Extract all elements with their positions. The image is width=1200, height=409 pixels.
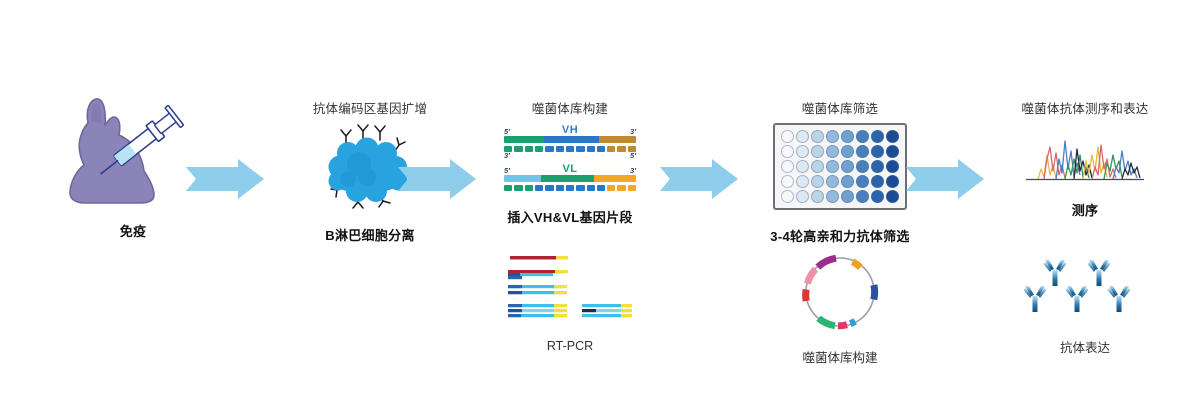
plate-well	[781, 190, 794, 203]
plate-well	[796, 175, 809, 188]
workflow-diagram: 免疫 抗体编码区基因扩增	[0, 0, 1200, 409]
plate-well	[841, 130, 854, 143]
antibody-molecules-icon	[1021, 258, 1149, 327]
top-label-sequencing: 噬菌体抗体测序和表达	[985, 98, 1185, 117]
plate-well	[871, 175, 884, 188]
plate-well	[871, 160, 884, 173]
plate-well	[886, 130, 899, 143]
plate-well	[796, 145, 809, 158]
plate-well	[781, 175, 794, 188]
sub-label-plasmid: 噬菌体库构建	[740, 347, 940, 366]
plate-well	[841, 175, 854, 188]
sub-panel-plasmid: 噬菌体库构建	[740, 250, 940, 366]
plate-well	[781, 130, 794, 143]
plasmid-map-icon	[795, 250, 885, 341]
step-label-immunization: 免疫	[58, 221, 208, 240]
step-label-library: 插入VH&VL基因片段	[480, 207, 660, 226]
plate-well	[826, 160, 839, 173]
plate-well	[856, 130, 869, 143]
top-label-screening: 噬菌体库筛选	[740, 98, 940, 117]
vh-gene-bar	[504, 136, 636, 143]
plate-well	[811, 190, 824, 203]
plate-well	[811, 130, 824, 143]
plate-well	[826, 190, 839, 203]
step-label-sequencing: 测序	[985, 200, 1185, 219]
sub-label-rt-pcr: RT-PCR	[480, 339, 660, 353]
step-label-screening: 3-4轮高亲和力抗体筛选	[740, 226, 940, 245]
gel-electrophoresis-icon	[490, 252, 650, 329]
sub-panel-antibody-expression: 抗体表达	[985, 258, 1185, 356]
plate-well	[841, 145, 854, 158]
plate-well	[871, 130, 884, 143]
plate-well	[826, 175, 839, 188]
plate-well	[856, 160, 869, 173]
plate-well	[811, 160, 824, 173]
vh-lower-left-end: 3'	[504, 152, 510, 160]
plate-well	[856, 145, 869, 158]
plate-well	[886, 190, 899, 203]
top-label-library: 噬菌体库构建	[480, 98, 660, 117]
vh-right-end: 3'	[630, 128, 636, 136]
vl-label: VL	[562, 164, 577, 175]
vl-construct: 5' VL 3'	[504, 164, 636, 191]
plate-well	[841, 190, 854, 203]
vh-label: VH	[562, 125, 578, 136]
sub-label-antibody-expression: 抗体表达	[985, 337, 1185, 356]
microplate-icon	[773, 123, 907, 210]
top-label-bcell: 抗体编码区基因扩增	[275, 98, 465, 117]
plate-well	[826, 130, 839, 143]
plate-well	[856, 175, 869, 188]
step-label-bcell: B淋巴细胞分离	[275, 225, 465, 244]
arrow-library-to-screening	[660, 158, 738, 200]
plate-well	[826, 145, 839, 158]
arrow-bcell-to-library	[398, 158, 476, 200]
plate-well	[781, 160, 794, 173]
vl-left-end: 5'	[504, 167, 510, 175]
arrow-screening-to-sequencing	[906, 158, 984, 200]
vl-gene-bar	[504, 175, 636, 182]
vh-construct: 5' VH 3'	[504, 125, 636, 162]
plate-well	[796, 130, 809, 143]
arrow-immunization-to-bcell	[186, 158, 264, 200]
vh-lower-right-end: 5'	[630, 152, 636, 160]
plate-well	[856, 190, 869, 203]
plate-well	[796, 160, 809, 173]
plate-well	[811, 145, 824, 158]
plate-well	[886, 175, 899, 188]
plate-well	[796, 190, 809, 203]
plate-well	[886, 145, 899, 158]
step-sequencing-expression: 噬菌体抗体测序和表达	[985, 98, 1185, 219]
plate-well	[841, 160, 854, 173]
vl-right-end: 3'	[630, 167, 636, 175]
vl-dash-strand	[504, 185, 636, 191]
plate-well	[871, 145, 884, 158]
vh-left-end: 5'	[504, 128, 510, 136]
plate-well	[781, 145, 794, 158]
plate-well	[871, 190, 884, 203]
step-library-construction: 噬菌体库构建 5' VH 3'	[480, 98, 660, 226]
sequencing-chromatogram-icon	[1020, 125, 1150, 190]
sub-panel-rt-pcr: RT-PCR	[480, 252, 660, 353]
plate-well	[886, 160, 899, 173]
plate-well	[811, 175, 824, 188]
